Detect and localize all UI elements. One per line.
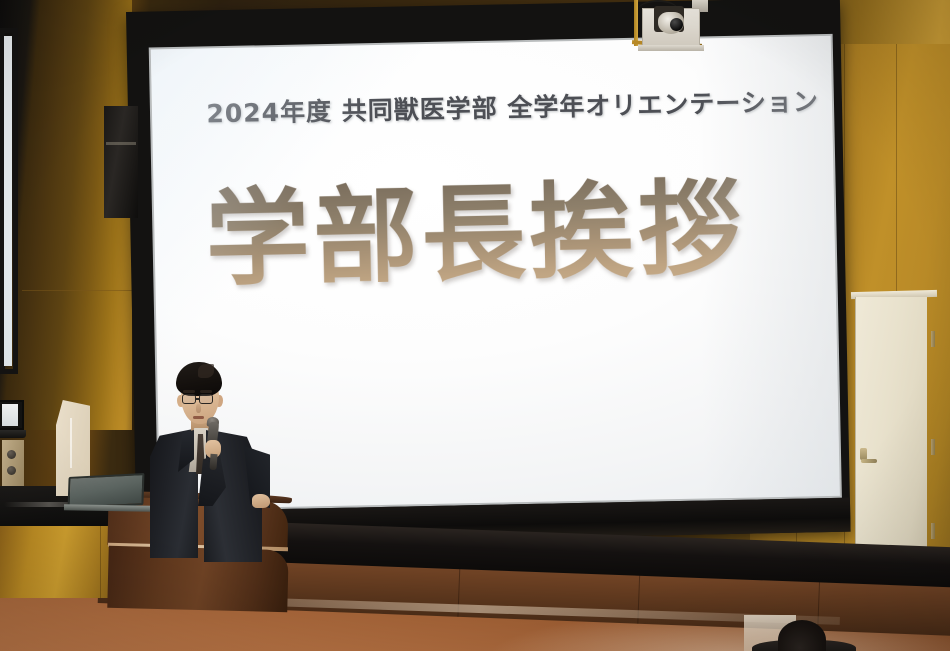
presenter-glasses-left-lens [182, 394, 196, 404]
av-equipment-rack[interactable] [2, 440, 24, 486]
presenter-right-hand [252, 494, 270, 508]
projection-screen-surface: 2024年度 共同獣医学部 全学年オリエンテーション 学部長挨拶 [151, 36, 840, 510]
presenter-eyebrow-left [183, 390, 195, 393]
av-desk-wood-panel [0, 526, 114, 598]
door-leaf[interactable] [855, 297, 927, 585]
av-rack-knob-lower-icon[interactable] [7, 466, 16, 475]
projection-screen-bezel: 2024年度 共同獣医学部 全学年オリエンテーション 学部長挨拶 [149, 34, 842, 512]
camera-base-plate [638, 45, 704, 51]
camera-support-pole [634, 0, 638, 46]
av-monitor-screen[interactable] [2, 404, 18, 426]
presenter-glasses-right-lens [199, 394, 213, 404]
secondary-screen-sliver [4, 36, 12, 366]
presenter-nose [196, 404, 201, 413]
loudspeaker-cabinet [104, 106, 138, 218]
door-hinge-lower [931, 523, 935, 539]
slide-header-text: 2024年度 共同獣医学部 全学年オリエンテーション [206, 83, 791, 131]
door-handle-lever[interactable] [861, 459, 877, 463]
door-hinge-middle [931, 439, 935, 455]
av-rack-knob-upper-icon[interactable] [7, 450, 16, 459]
background-panel-edge [70, 418, 72, 468]
presenter-glasses-bridge [196, 398, 200, 400]
microphone-base [209, 454, 217, 470]
presenter-mouth [193, 416, 204, 419]
camera-lens-icon [670, 18, 683, 31]
av-monitor-stand [0, 430, 26, 438]
door-hinge-upper [931, 331, 935, 347]
loudspeaker-highlight [106, 142, 136, 145]
lecture-hall-photo: 2024年度 共同獣医学部 全学年オリエンテーション 学部長挨拶 [0, 0, 950, 651]
slide-title-text: 学部長挨拶 [204, 142, 805, 305]
presenter-hair-part [198, 364, 214, 378]
presenter-eyebrow-right [200, 390, 212, 393]
av-desk-wood-seam [100, 526, 101, 598]
left-wall-seam [22, 290, 132, 291]
